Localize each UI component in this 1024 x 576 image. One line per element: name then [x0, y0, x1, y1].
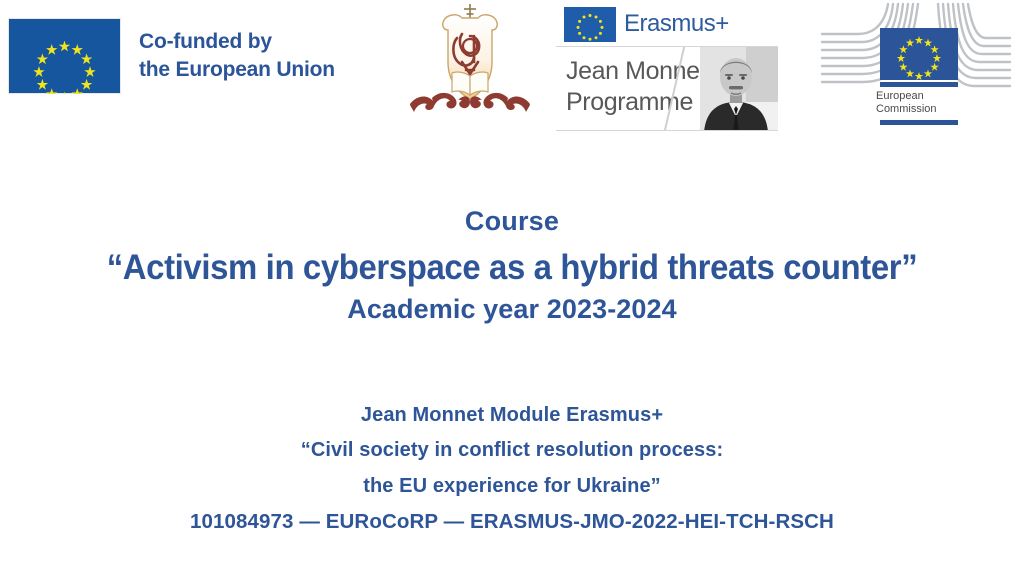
jean-monnet-portrait-photo	[700, 47, 778, 131]
presentation-slide: Co-funded by the European Union	[0, 0, 1024, 576]
module-block: Jean Monnet Module Erasmus+ “Civil socie…	[0, 398, 1024, 540]
logo-bar: Co-funded by the European Union	[0, 0, 1024, 140]
academic-year-label: Academic year 2023-2024	[0, 292, 1024, 327]
page-title: “Activism in cyberspace as a hybrid thre…	[31, 245, 994, 291]
module-line-2: “Civil society in conflict resolution pr…	[0, 433, 1024, 468]
co-funded-line-1: Co-funded by	[139, 28, 335, 56]
eu-flag-icon	[880, 28, 958, 80]
naukma-coat-of-arms	[400, 0, 540, 120]
coat-of-arms-icon	[400, 0, 540, 120]
eu-flag-icon	[564, 7, 616, 42]
co-funded-by-the-european-union-logo: Co-funded by the European Union	[8, 18, 335, 94]
european-commission-logo: European Commission	[818, 2, 1014, 134]
ec-line-2: Commission	[876, 103, 968, 116]
eu-flag-icon	[8, 18, 121, 94]
module-line-1: Jean Monnet Module Erasmus+	[0, 398, 1024, 433]
jean-monnet-programme-box: Jean Monnet Programme	[556, 46, 778, 131]
title-block: Course “Activism in cyberspace as a hybr…	[0, 205, 1024, 327]
jean-monnet-line-2: Programme	[566, 87, 706, 118]
course-label: Course	[0, 205, 1024, 239]
jean-monnet-line-1: Jean Monnet	[566, 56, 706, 87]
jean-monnet-programme-label: Jean Monnet Programme	[566, 56, 706, 117]
erasmus-plus-row: Erasmus+	[556, 4, 778, 44]
ec-line-1: European	[876, 90, 968, 103]
co-funded-label: Co-funded by the European Union	[139, 28, 335, 83]
erasmus-plus-label: Erasmus+	[624, 10, 729, 38]
european-commission-label: European Commission	[876, 90, 968, 117]
open-book	[452, 72, 488, 95]
co-funded-line-2: the European Union	[139, 56, 335, 84]
ec-bar-top	[880, 82, 958, 87]
eu-stars-icon	[9, 19, 120, 94]
grant-reference-line: 101084973 — EURoCoRP — ERASMUS-JMO-2022-…	[0, 504, 1024, 540]
erasmus-plus-jean-monnet-programme-logo: Erasmus+ Jean Monnet Programme	[556, 4, 778, 134]
module-line-3: the EU experience for Ukraine”	[0, 469, 1024, 504]
ec-bar-bottom	[880, 120, 958, 125]
